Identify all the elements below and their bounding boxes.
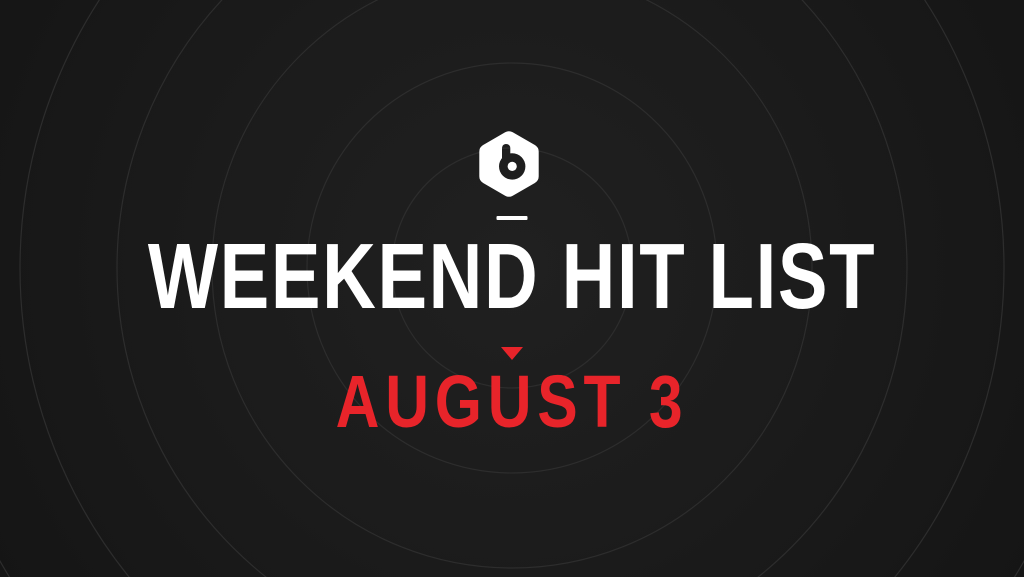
red-triangle-caret bbox=[501, 347, 523, 360]
poster-content-stack: WEEKEND HIT LIST AUGUST 3 bbox=[0, 0, 1024, 577]
page-title: WEEKEND HIT LIST bbox=[102, 228, 921, 324]
beats-hexagon-logo bbox=[479, 131, 545, 197]
weekend-hit-list-poster: WEEKEND HIT LIST AUGUST 3 bbox=[0, 0, 1024, 577]
date-label: AUGUST 3 bbox=[92, 363, 932, 441]
white-rule-divider bbox=[497, 216, 528, 220]
